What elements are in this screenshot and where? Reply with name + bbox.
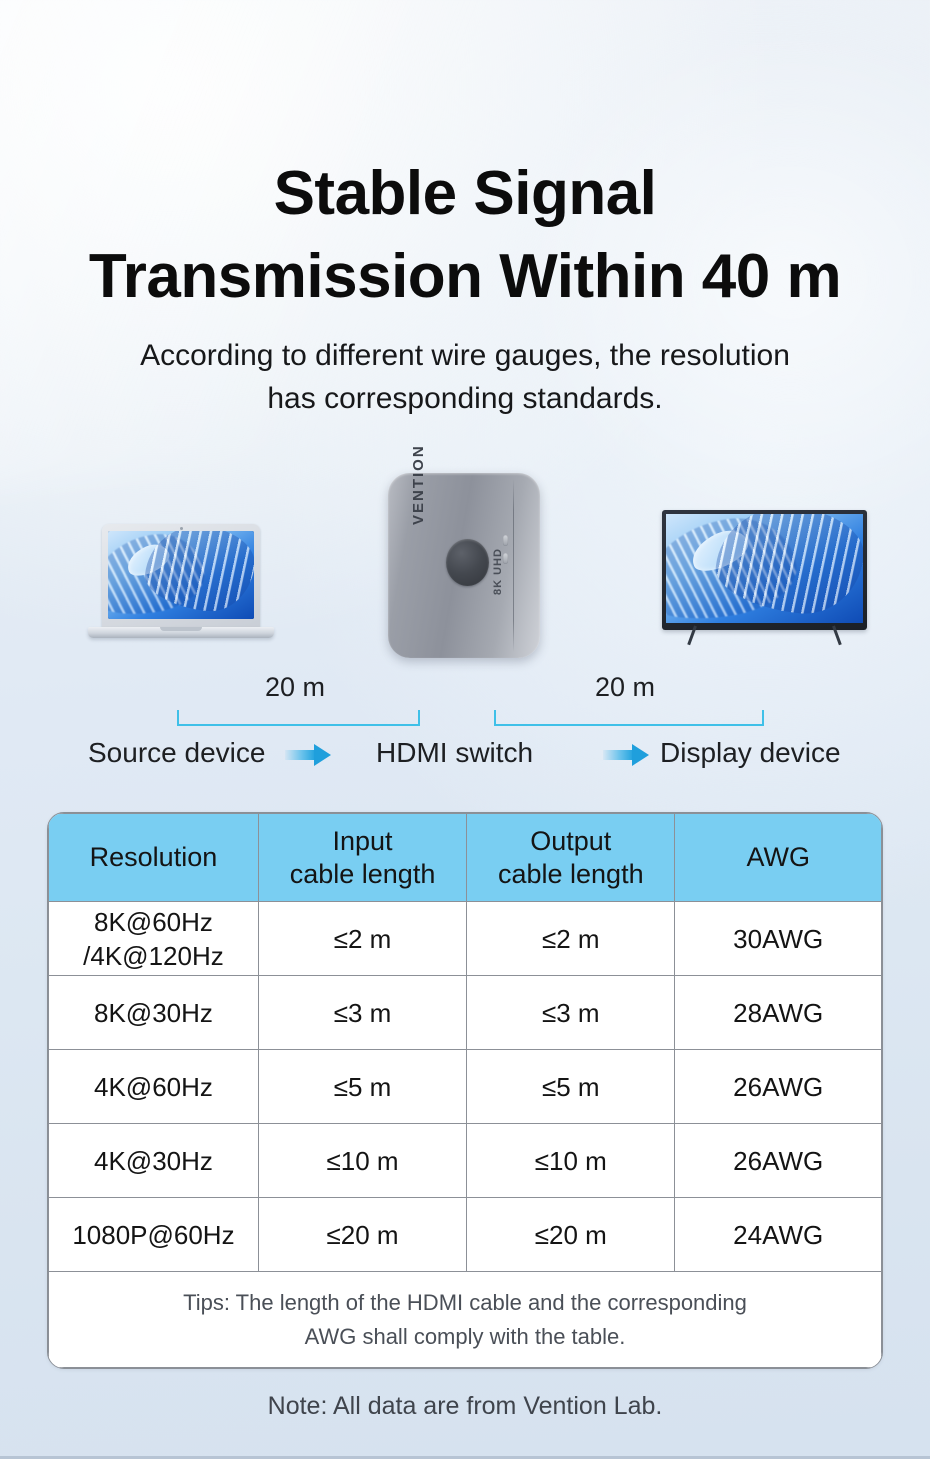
cell-awg: 26AWG [675,1050,882,1124]
column-header-resolution: Resolution [49,814,259,902]
cell-resolution: 4K@60Hz [49,1050,259,1124]
windows-wallpaper [666,514,863,623]
table-row: 8K@60Hz /4K@120Hz ≤2 m ≤2 m 30AWG [49,902,882,976]
subtitle-line-1: According to different wire gauges, the … [0,334,930,377]
resolution-line-2: /4K@120Hz [83,941,224,971]
device-spec-label: 8K UHD [492,548,504,595]
device-select-button[interactable] [446,539,489,586]
headline-line-1: Stable Signal [274,159,657,228]
column-header-input-length: Input cable length [258,814,466,902]
header-line-1: Input [333,826,393,856]
tips-text: Tips: The length of the HDMI cable and t… [49,1272,882,1368]
page-title: Stable Signal Transmission Within 40 m [0,152,930,318]
tips-line-1: Tips: The length of the HDMI cable and t… [79,1286,851,1320]
arrow-head [632,744,649,766]
column-header-awg: AWG [675,814,882,902]
header-line-2: cable length [498,859,644,889]
source-laptop-illustration [88,524,274,641]
laptop-lid [102,524,260,628]
table-row: 4K@60Hz ≤5 m ≤5 m 26AWG [49,1050,882,1124]
connection-diagram: VENTION 8K UHD 20 m 20 m Source device H… [0,462,930,782]
hdmi-switch-illustration: VENTION 8K UHD [388,473,540,658]
arrow-shaft [285,750,315,760]
table-row: 8K@30Hz ≤3 m ≤3 m 28AWG [49,976,882,1050]
laptop-trackpad-notch [160,627,202,631]
headline-line-2: Transmission Within 40 m [0,235,930,318]
tips-line-2: AWG shall comply with the table. [79,1320,851,1354]
header-line-1: Resolution [90,842,218,872]
flow-arrow-icon [285,744,331,766]
display-device-label: Display device [660,737,841,769]
laptop-screen [108,531,254,619]
cell-resolution: 1080P@60Hz [49,1198,259,1272]
arrow-head [314,744,331,766]
cell-resolution: 4K@30Hz [49,1124,259,1198]
page-subtitle: According to different wire gauges, the … [0,334,930,420]
cell-output-length: ≤3 m [467,976,675,1050]
device-led-indicator-1 [503,535,508,546]
table-tips-row: Tips: The length of the HDMI cable and t… [49,1272,882,1368]
arrow-shaft [603,750,633,760]
distance-label-right: 20 m [505,672,745,703]
measurement-bracket-right [494,710,764,726]
header-line-1: Output [530,826,611,856]
resolution-line-1: 8K@60Hz [94,907,213,937]
cell-input-length: ≤10 m [258,1124,466,1198]
cell-input-length: ≤3 m [258,976,466,1050]
laptop-base [88,627,274,638]
cell-awg: 30AWG [675,902,882,976]
column-header-output-length: Output cable length [467,814,675,902]
header-line-1: AWG [746,842,810,872]
device-brand-label: VENTION [410,444,427,525]
table-header-row: Resolution Input cable length Output cab… [49,814,882,902]
source-device-label: Source device [88,737,265,769]
cell-awg: 28AWG [675,976,882,1050]
cell-awg: 24AWG [675,1198,882,1272]
wallpaper-petal [686,523,753,577]
cell-output-length: ≤2 m [467,902,675,976]
table-row: 1080P@60Hz ≤20 m ≤20 m 24AWG [49,1198,882,1272]
cell-awg: 26AWG [675,1124,882,1198]
cell-resolution: 8K@60Hz /4K@120Hz [49,902,259,976]
cell-input-length: ≤5 m [258,1050,466,1124]
header-line-2: cable length [290,859,436,889]
cell-output-length: ≤20 m [467,1198,675,1272]
cell-input-length: ≤2 m [258,902,466,976]
specification-table: Resolution Input cable length Output cab… [47,812,883,1369]
subtitle-line-2: has corresponding standards. [0,377,930,420]
flow-arrow-icon [603,744,649,766]
laptop-camera-icon [180,527,183,530]
wallpaper-petal [122,539,173,581]
measurement-bracket-left [177,710,420,726]
cell-input-length: ≤20 m [258,1198,466,1272]
windows-wallpaper [108,531,254,619]
data-source-note: Note: All data are from Vention Lab. [0,1392,930,1421]
display-tv-illustration [662,510,867,642]
distance-label-left: 20 m [175,672,415,703]
tv-frame [662,510,867,630]
hdmi-switch-label: HDMI switch [376,737,533,769]
cell-resolution: 8K@30Hz [49,976,259,1050]
cell-output-length: ≤5 m [467,1050,675,1124]
cell-output-length: ≤10 m [467,1124,675,1198]
table-row: 4K@30Hz ≤10 m ≤10 m 26AWG [49,1124,882,1198]
tv-screen [666,514,863,623]
